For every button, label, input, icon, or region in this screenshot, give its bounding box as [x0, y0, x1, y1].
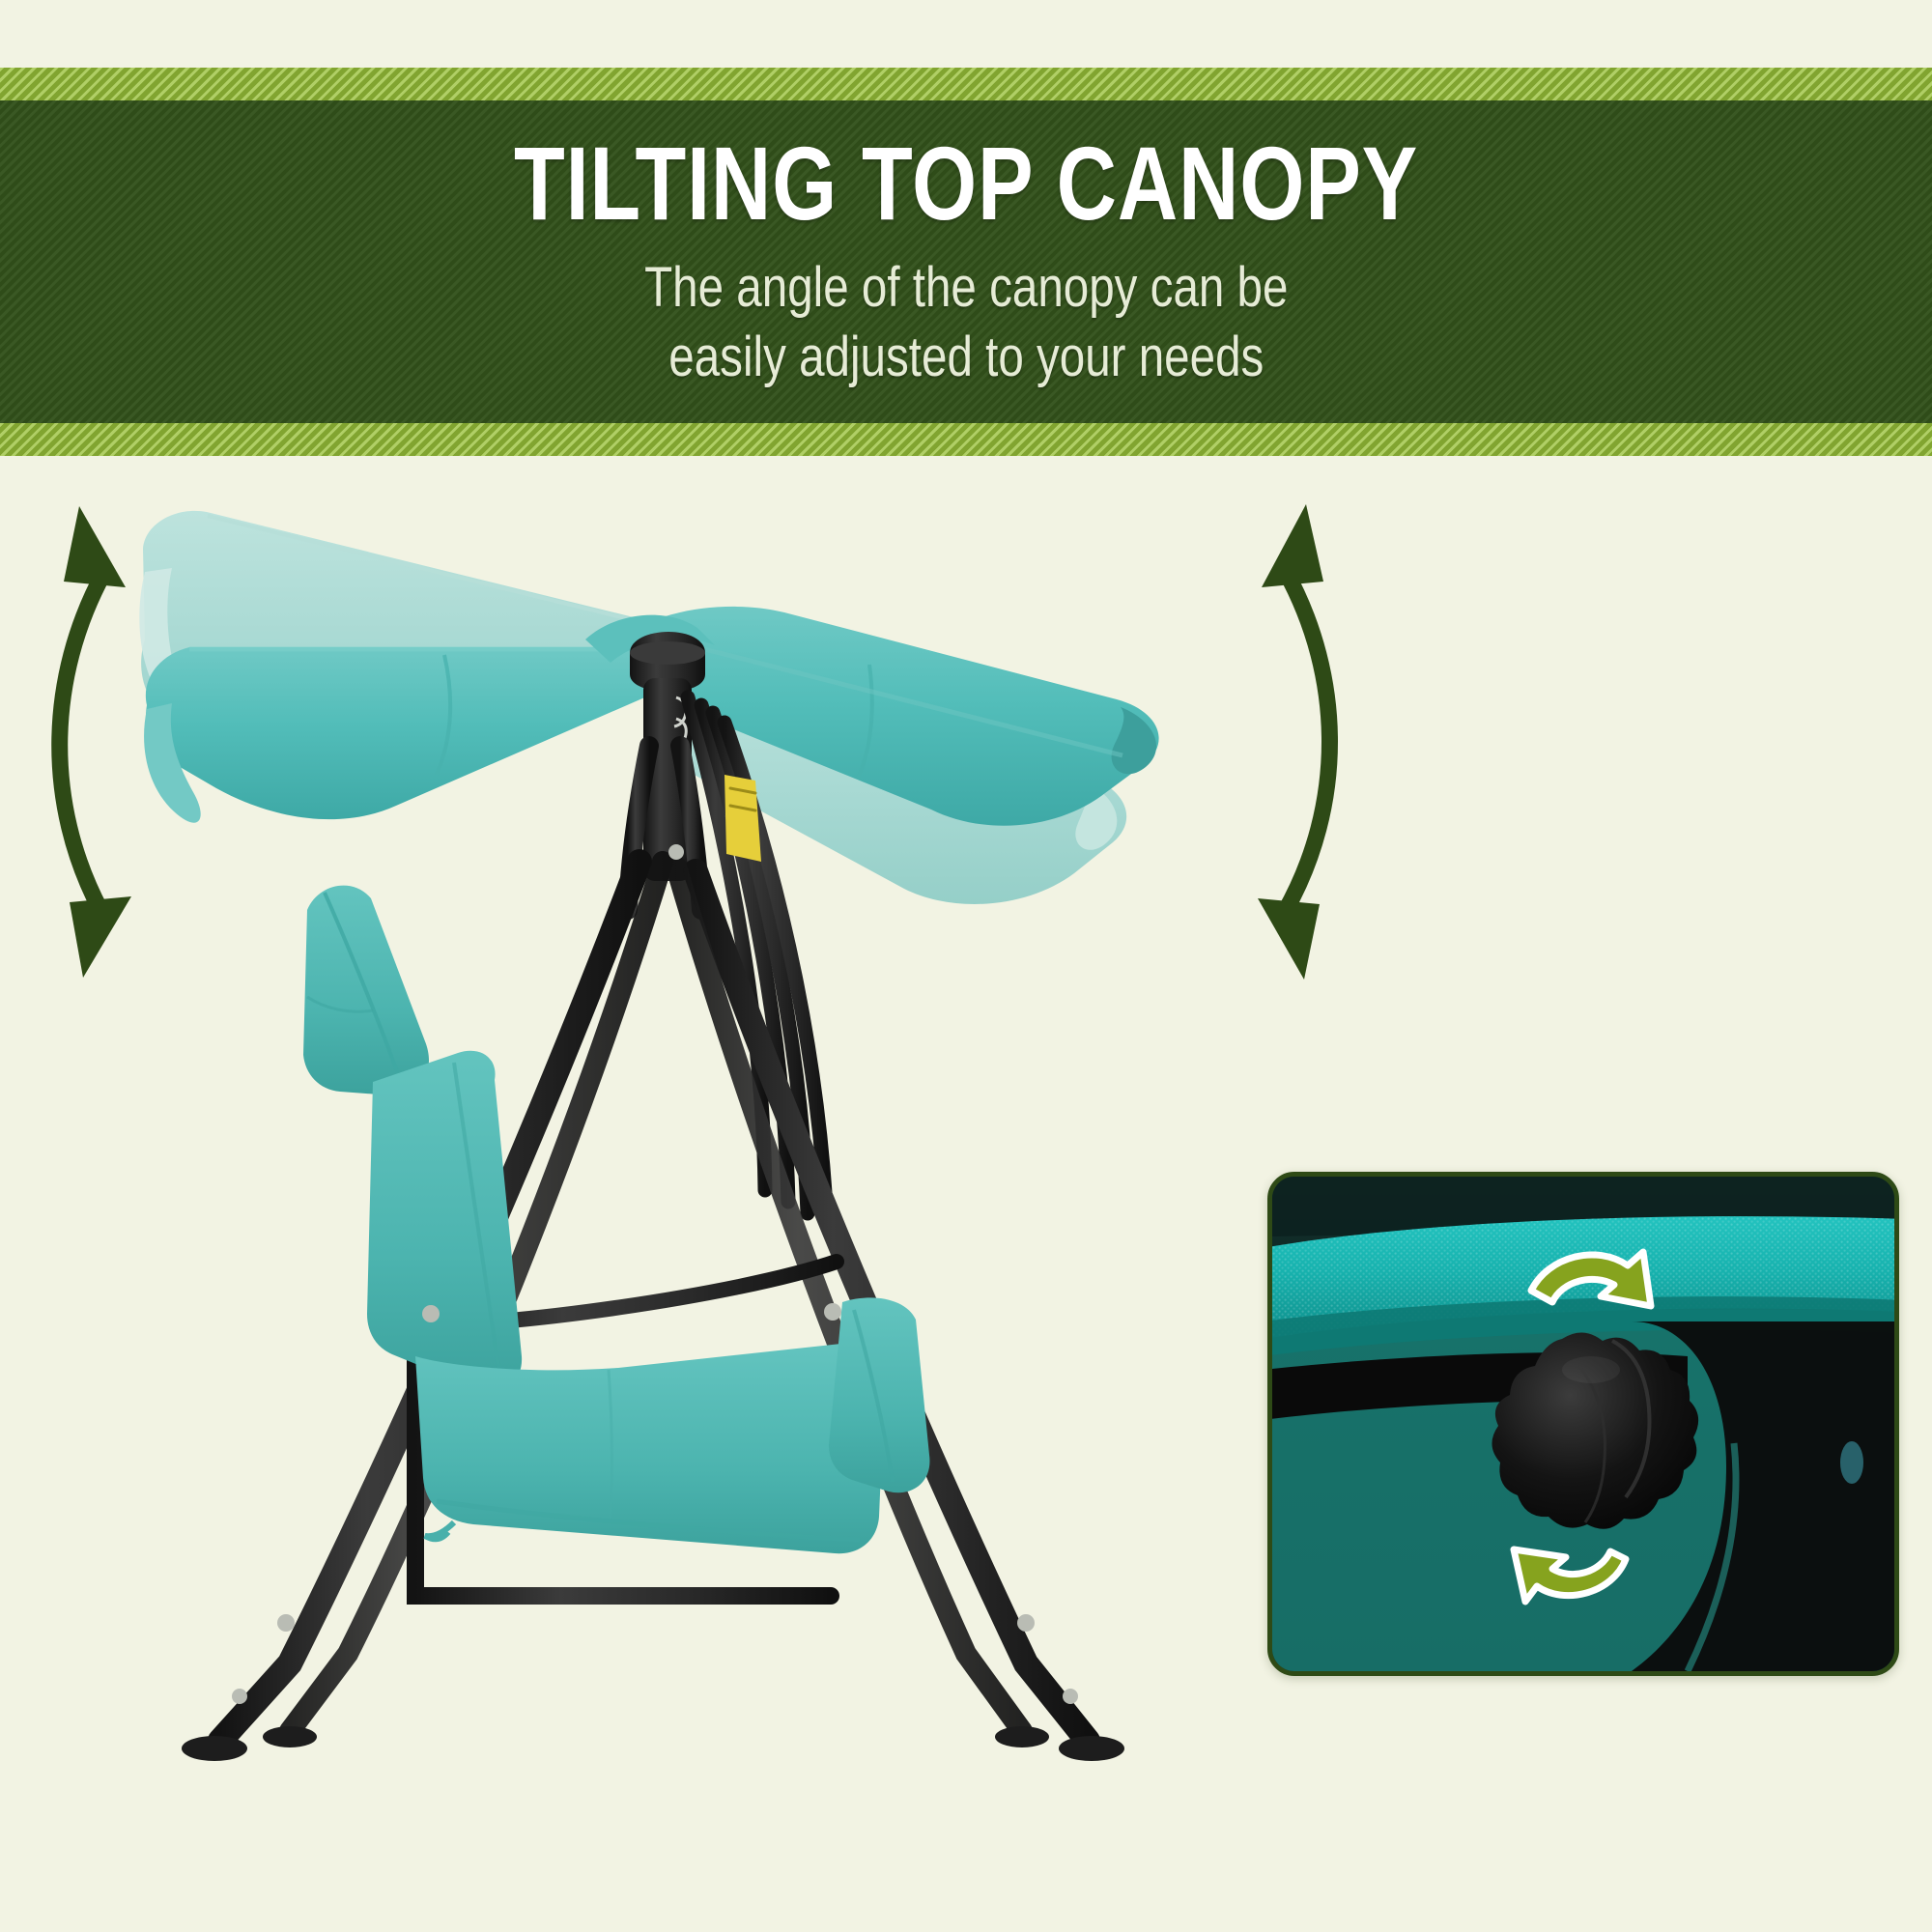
- side-bolt: [1840, 1441, 1863, 1484]
- banner-accent-bottom: [0, 423, 1932, 456]
- feature-image-canvas: TILTING TOP CANOPY The angle of the cano…: [0, 0, 1932, 1932]
- foot-pad-right: [1059, 1736, 1124, 1761]
- knob-detail-inset: [1267, 1172, 1899, 1676]
- header-banner: TILTING TOP CANOPY The angle of the cano…: [0, 68, 1932, 456]
- seat-cushion: [415, 1343, 886, 1553]
- accent-top-texture: [0, 68, 1932, 100]
- knob-detail-graphic: [1272, 1177, 1894, 1671]
- banner-accent-top: [0, 68, 1932, 100]
- accent-bottom-texture: [0, 423, 1932, 456]
- tilt-range-left-arrow: [60, 506, 131, 978]
- foot-pad-left: [182, 1736, 247, 1761]
- headline: TILTING TOP CANOPY: [514, 131, 1418, 236]
- subline: The angle of the canopy can be easily ad…: [644, 253, 1288, 392]
- banner-text-block: TILTING TOP CANOPY The angle of the cano…: [0, 100, 1932, 423]
- tilt-range-right-arrow: [1258, 504, 1330, 980]
- back-cushion: [367, 1051, 522, 1392]
- armrest-cushion: [829, 1297, 929, 1492]
